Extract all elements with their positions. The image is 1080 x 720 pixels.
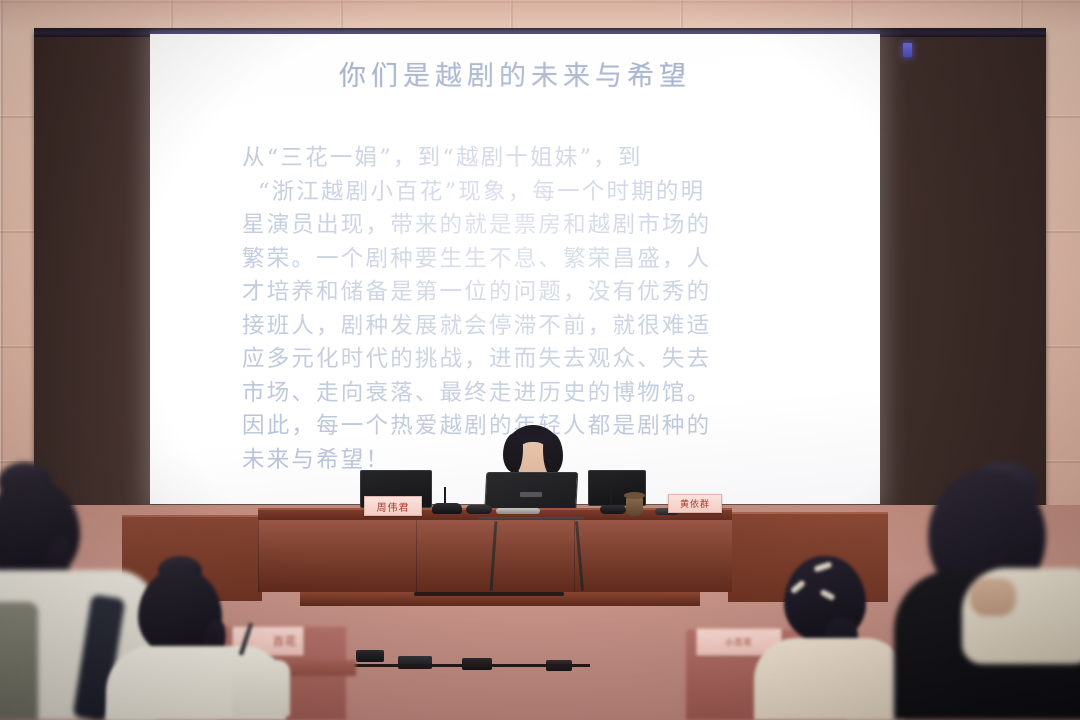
nameplate-head-table-right: 黄依群 — [668, 494, 722, 513]
audience-student-left-center — [120, 568, 270, 720]
student-arm — [232, 660, 290, 716]
presenter-hair-right — [543, 433, 563, 475]
microphone-left — [432, 503, 462, 514]
slide-line: 应多元化时代的挑战，进而失去观众、失去 — [242, 343, 802, 377]
student-neck — [970, 578, 1016, 616]
floor-equipment-b — [398, 656, 432, 669]
microphone-right — [600, 505, 626, 514]
microphone-center-left — [466, 505, 492, 514]
slide-line: 市场、走向衰落、最终走进历史的博物馆。 — [242, 377, 802, 411]
audience-student-far-right — [918, 470, 1080, 720]
projector-light-artifact — [903, 43, 912, 57]
slide-line: 接班人，剧种发展就会停滞不前，就很难适 — [242, 310, 802, 344]
screen-surround-left — [34, 30, 152, 508]
slide-line: 从“三花一娟”，到“越剧十姐妹”，到 — [242, 142, 802, 176]
slide-line: 才培养和储备是第一位的问题，没有优秀的 — [242, 276, 802, 310]
lecture-hall-scene: 你们是越剧的未来与希望 从“三花一娟”，到“越剧十姐妹”，到 “浙江越剧小百花”… — [0, 0, 1080, 720]
slide-line: 繁荣。一个剧种要生生不息、繁荣昌盛，人 — [242, 243, 802, 277]
audience-student-right-center — [768, 556, 908, 720]
slide-line: “浙江越剧小百花”现象，每一个时期的明 — [242, 176, 802, 210]
microphone-center — [496, 508, 540, 514]
slide-line: 星演员出现，带来的就是票房和越剧市场的 — [242, 209, 802, 243]
floor-equipment-a — [356, 650, 384, 662]
tea-cup — [626, 496, 643, 516]
nameplate-head-table-left: 周伟君 — [364, 496, 422, 516]
floor-cable-lower — [330, 664, 590, 667]
laptop-logo — [520, 492, 542, 497]
microphone-stand-right — [610, 489, 612, 506]
screen-surround-right — [878, 30, 1046, 508]
slide-title: 你们是越剧的未来与希望 — [150, 54, 880, 93]
student-shoulder — [0, 602, 38, 720]
floor-cable-upper — [414, 592, 564, 596]
student-jacket — [754, 638, 904, 720]
presenter-hair-left — [503, 433, 523, 473]
